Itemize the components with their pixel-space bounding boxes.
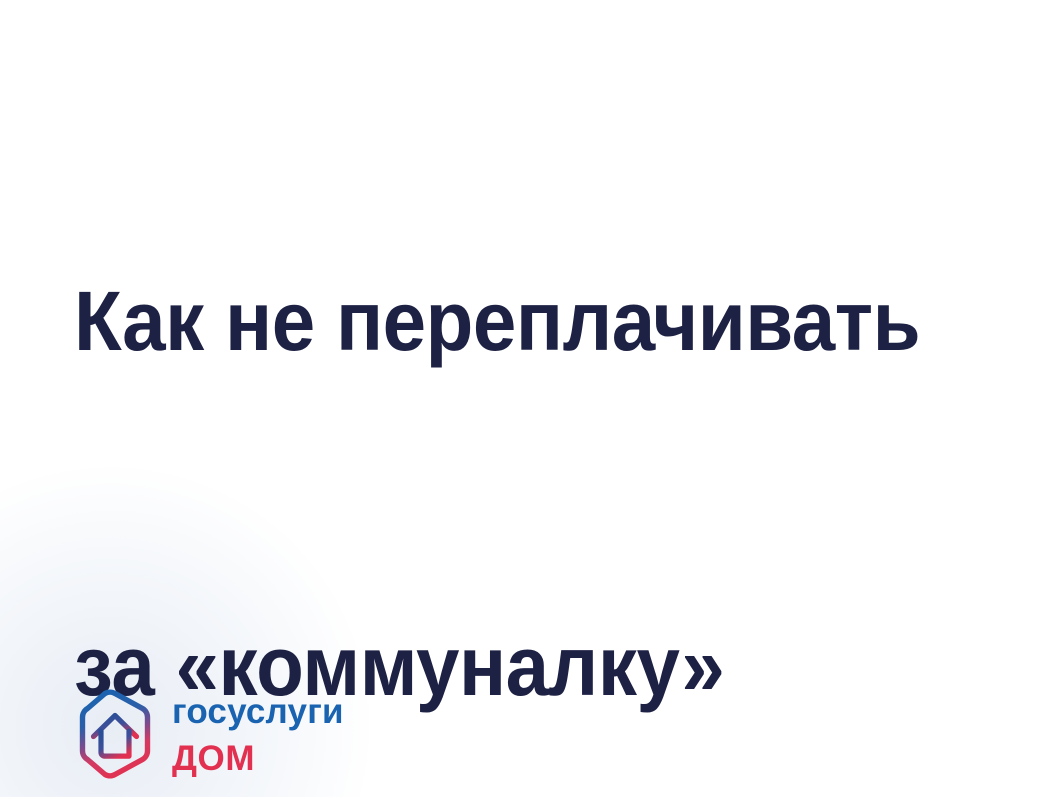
gosuslugi-dom-logo[interactable]: госуслуги дом	[72, 688, 344, 780]
page-title: Как не переплачивать за «коммуналку»	[74, 34, 930, 797]
hexagon-house-icon	[72, 688, 158, 780]
logo-word-dom: дом	[172, 741, 344, 776]
title-slide: Как не переплачивать за «коммуналку»	[0, 0, 1059, 797]
page-title-line-1: Как не переплачивать	[74, 264, 930, 379]
logo-wordmark: госуслуги дом	[172, 694, 344, 776]
logo-word-gosuslugi: госуслуги	[172, 694, 344, 729]
